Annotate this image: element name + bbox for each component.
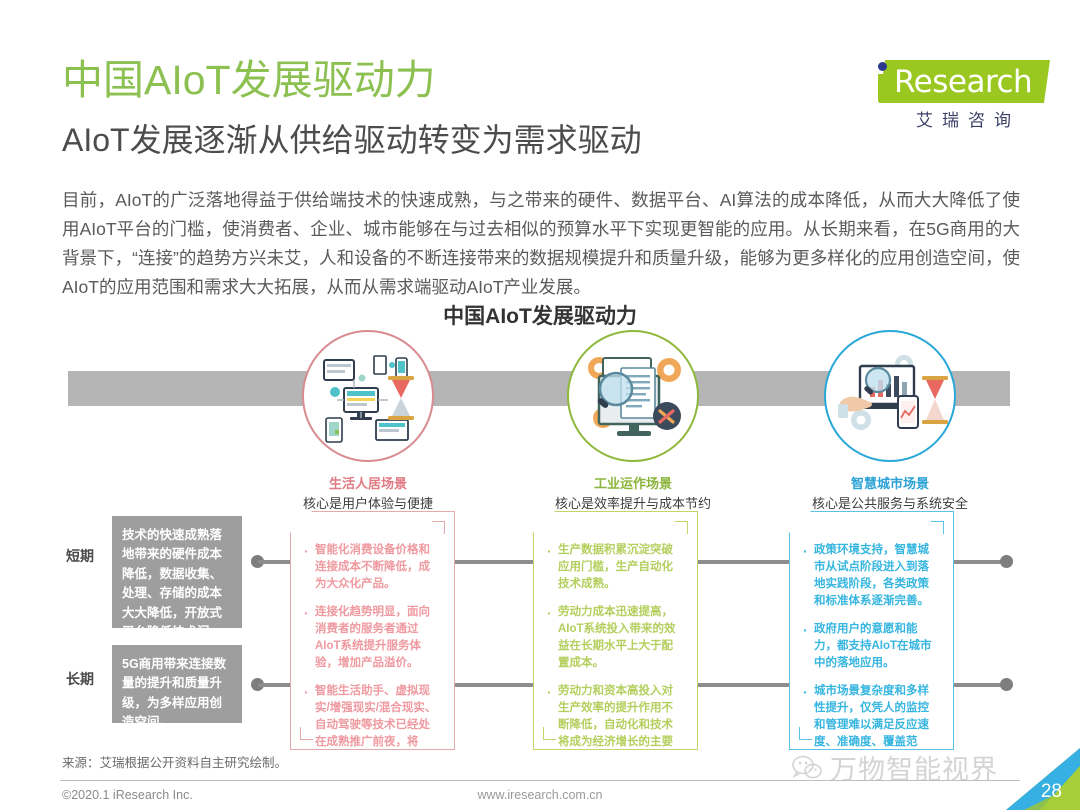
- list-item: 连接化趋势明显，面向消费者的服务者通过AIoT系统提升服务体验，增加产品溢价。: [315, 604, 440, 672]
- bullet-list: 智能化消费设备价格和连接成本不断降低，成为大众化产品。 连接化趋势明显，面向消费…: [301, 542, 444, 785]
- scenario-group-smart-city: 智慧城市场景 核心是公共服务与系统安全: [770, 330, 1010, 513]
- corner-bracket-icon: [931, 521, 944, 534]
- devices-hourglass-icon: [302, 330, 434, 462]
- scenario-label: 智慧城市场景: [770, 474, 1010, 494]
- connector-dot: [1000, 555, 1013, 568]
- row-label-short-term: 短期: [56, 546, 104, 566]
- website-url: www.iresearch.com.cn: [0, 788, 1080, 802]
- corner-bracket-icon: [300, 727, 313, 740]
- corner-bracket-icon: [675, 521, 688, 534]
- driver-box-short-term: 技术的快速成熟落地带来的硬件成本降低，数据收集、处理、存储的成本大大降低，开放式…: [112, 516, 242, 628]
- dashboard-analytics-icon: [824, 330, 956, 462]
- connector-line: [448, 683, 543, 687]
- living-illustration: [304, 332, 434, 462]
- corner-bracket-icon: [432, 521, 445, 534]
- scenario-subtitle: 核心是公共服务与系统安全: [770, 494, 1010, 514]
- scenario-group-industrial: 工业运作场景 核心是效率提升与成本节约: [513, 330, 753, 513]
- list-item: 政府用户的意愿和能力，都支持AIoT在城市中的落地应用。: [814, 621, 939, 672]
- detail-box-industrial: 生产数据积累沉淀突破应用门槛，生产自动化技术成熟。 劳动力成本迅速提高，AIoT…: [533, 511, 698, 750]
- connector-line: [693, 560, 797, 564]
- corner-bracket-icon: [799, 727, 812, 740]
- bullet-list: 政策环境支持，智慧城市从试点阶段进入到落地实践阶段，各类政策和标准体系逐渐完善。…: [800, 542, 943, 768]
- scenario-label: 工业运作场景: [513, 474, 753, 494]
- scenario-subtitle: 核心是效率提升与成本节约: [513, 494, 753, 514]
- connector-dot: [1000, 678, 1013, 691]
- corner-bracket-icon: [543, 727, 556, 740]
- list-item: 政策环境支持，智慧城市从试点阶段进入到落地实践阶段，各类政策和标准体系逐渐完善。: [814, 542, 939, 610]
- page-subtitle: AIoT发展逐渐从供给驱动转变为需求驱动: [62, 122, 642, 159]
- page-number: 28: [1041, 781, 1062, 803]
- connector-line: [448, 560, 543, 564]
- iresearch-logo: Research 艾瑞咨询: [852, 52, 1062, 138]
- list-item: 智能生活助手、虚拟现实/增强现实/混合现实、自动驾驶等技术已经处在成熟推广前夜，…: [315, 683, 440, 785]
- connector-line: [948, 683, 1006, 687]
- logo-chinese-name: 艾瑞咨询: [888, 106, 1048, 131]
- logo-letter-i-dot: [878, 62, 887, 71]
- page-title: 中国AIoT发展驱动力: [62, 58, 436, 103]
- smartcity-illustration: [826, 332, 956, 462]
- scenario-label: 生活人居场景: [248, 474, 488, 494]
- list-item: 劳动力和资本高投入对生产效率的提升作用不断降低，自动化和技术将成为经济增长的主要…: [558, 683, 683, 768]
- list-item: 智能化消费设备价格和连接成本不断降低，成为大众化产品。: [315, 542, 440, 593]
- corner-decoration: [962, 748, 1080, 810]
- list-item: 生产数据积累沉淀突破应用门槛，生产自动化技术成熟。: [558, 542, 683, 593]
- logo-wordmark: Research: [894, 64, 1032, 100]
- scenario-subtitle: 核心是用户体验与便捷: [248, 494, 488, 514]
- wechat-icon: [792, 755, 822, 781]
- footer-divider: [60, 780, 1020, 781]
- logo-letter-i-stem: [878, 74, 887, 102]
- slide-page: 中国AIoT发展驱动力 AIoT发展逐渐从供给驱动转变为需求驱动 Researc…: [0, 0, 1080, 810]
- source-note: 来源：艾瑞根据公开资料自主研究绘制。: [62, 752, 287, 771]
- monitor-gears-magnifier-icon: [567, 330, 699, 462]
- chart-title: 中国AIoT发展驱动力: [0, 300, 1080, 330]
- intro-paragraph: 目前，AIoT的广泛落地得益于供给端技术的快速成熟，与之带来的硬件、数据平台、A…: [62, 186, 1020, 302]
- row-label-long-term: 长期: [56, 669, 104, 689]
- driver-box-long-term: 5G商用带来连接数量的提升和质量升级，为多样应用创造空间。: [112, 645, 242, 723]
- list-item: 劳动力成本迅速提高，AIoT系统投入带来的效益在长期水平上大于配置成本。: [558, 604, 683, 672]
- detail-box-living: 智能化消费设备价格和连接成本不断降低，成为大众化产品。 连接化趋势明显，面向消费…: [290, 511, 455, 750]
- connector-line: [948, 560, 1006, 564]
- bullet-list: 生产数据积累沉淀突破应用门槛，生产自动化技术成熟。 劳动力成本迅速提高，AIoT…: [544, 542, 687, 768]
- connector-line: [693, 683, 797, 687]
- scenario-group-living: 生活人居场景 核心是用户体验与便捷: [248, 330, 488, 513]
- detail-box-smart-city: 政策环境支持，智慧城市从试点阶段进入到落地实践阶段，各类政策和标准体系逐渐完善。…: [789, 511, 954, 750]
- industrial-illustration: [569, 332, 699, 462]
